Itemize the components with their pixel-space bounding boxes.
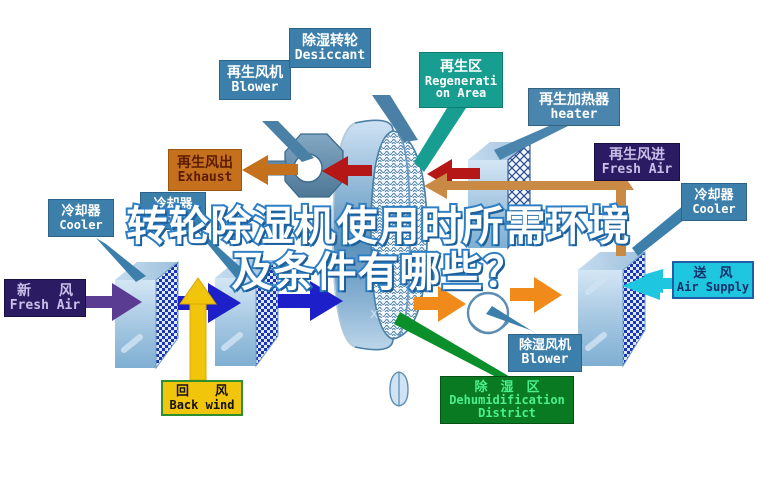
label-exhaust-out-cn: 再生风出	[177, 156, 233, 171]
label-desiccant-rotor: 除湿转轮 Desiccant	[289, 28, 371, 68]
label-regeneration-area-en: Regenerati on Area	[425, 75, 497, 100]
dry-air-arrow-2	[510, 277, 562, 313]
label-back-wind-cn: 回 风	[176, 385, 228, 399]
schematic-artwork: xt	[0, 0, 757, 488]
label-regen-heater: 再生加热器 heater	[528, 88, 620, 126]
label-regen-fresh-air-in: 再生风进 Fresh Air	[594, 143, 680, 181]
label-desiccant-rotor-en: Desiccant	[295, 49, 365, 63]
label-dehumidify-blower-cn: 除湿风机	[519, 339, 571, 353]
cooler-coil-1	[115, 262, 178, 368]
cooler-coil-3	[578, 252, 645, 366]
label-regen-fresh-air-in-cn: 再生风进	[609, 148, 665, 163]
label-exhaust-out-en: Exhaust	[178, 171, 233, 185]
label-fresh-air-in-en: Fresh Air	[10, 299, 80, 313]
label-regeneration-area: 再生区 Regenerati on Area	[419, 52, 503, 108]
label-dehumidify-blower-en: Blower	[522, 353, 569, 367]
label-cooler-left-outer: 冷却器 Cooler	[48, 199, 114, 237]
label-cooler-left-outer-en: Cooler	[59, 219, 102, 231]
label-regeneration-area-cn: 再生区	[440, 60, 482, 75]
label-regen-blower-cn: 再生风机	[227, 66, 283, 81]
label-dehumidification-district-cn: 除 湿 区	[474, 381, 539, 395]
label-dehumidification-district: 除 湿 区 Dehumidification District	[440, 376, 574, 424]
label-dehumidification-district-en: Dehumidification District	[449, 394, 565, 419]
label-exhaust-out: 再生风出 Exhaust	[168, 149, 242, 191]
label-regen-blower-en: Blower	[232, 81, 279, 95]
label-cooler-left-inner-cn: 冷却器	[153, 198, 192, 212]
label-regen-heater-en: heater	[551, 108, 598, 122]
drip-tray	[390, 372, 408, 406]
label-dehumidify-blower: 除湿风机 Blower	[508, 334, 582, 372]
label-air-supply-cn: 送 风	[693, 267, 732, 281]
label-back-wind-en: Back wind	[169, 399, 234, 411]
process-arrow-2	[278, 281, 343, 321]
dehumidifier-schematic-image: xt 再生风机 Blower 除湿转轮 Desiccant 再生区 Regene…	[0, 0, 757, 488]
label-fresh-air-in-cn: 新 风	[17, 284, 73, 299]
label-back-wind: 回 风 Back wind	[161, 380, 243, 416]
label-cooler-left-inner: 冷却器 Cooler	[140, 192, 206, 230]
label-cooler-right: 冷却器 Cooler	[681, 183, 747, 221]
label-cooler-right-cn: 冷却器	[694, 189, 733, 203]
label-air-supply: 送 风 Air Supply	[672, 261, 754, 299]
label-desiccant-rotor-cn: 除湿转轮	[302, 34, 358, 49]
label-air-supply-en: Air Supply	[677, 281, 749, 293]
label-cooler-right-en: Cooler	[692, 203, 735, 215]
watermark-text: xt	[370, 306, 388, 322]
label-regen-blower: 再生风机 Blower	[219, 60, 291, 100]
label-cooler-left-inner-en: Cooler	[151, 212, 194, 224]
label-fresh-air-in: 新 风 Fresh Air	[4, 279, 86, 317]
label-regen-fresh-air-in-en: Fresh Air	[602, 163, 672, 177]
label-regen-heater-cn: 再生加热器	[539, 93, 609, 108]
label-cooler-left-outer-cn: 冷却器	[61, 205, 100, 219]
